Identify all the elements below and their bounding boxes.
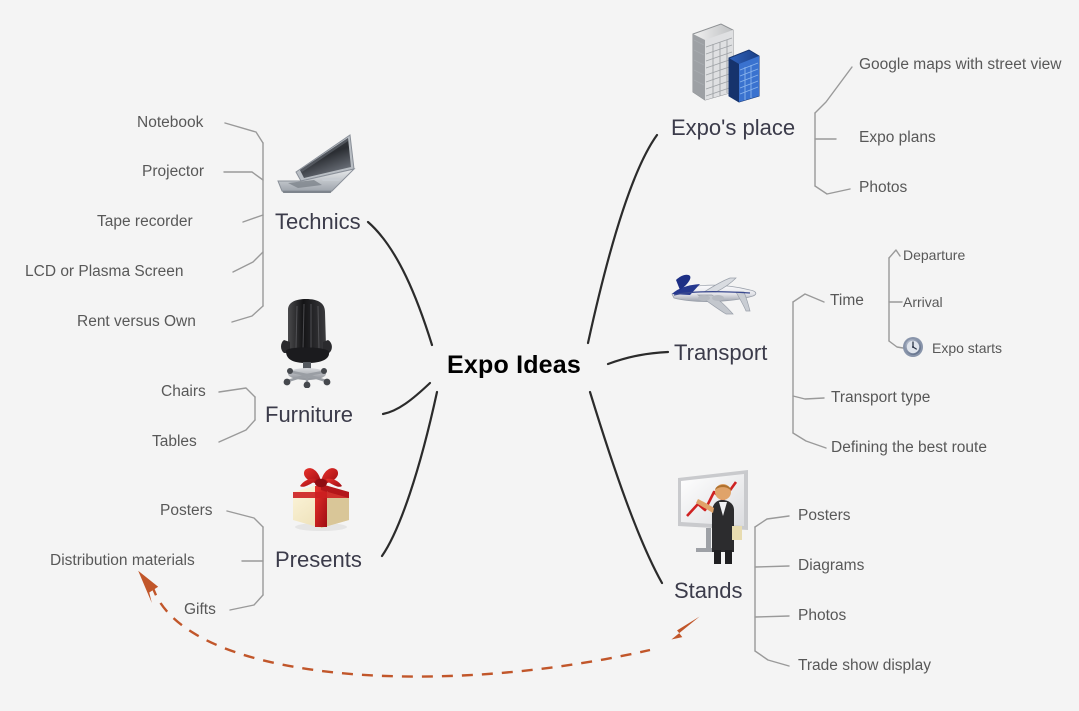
edge-center-technics — [368, 222, 432, 345]
edge-technics-lcd — [233, 252, 263, 272]
edge-stands-trade — [755, 651, 789, 666]
edge-transport-route — [793, 433, 826, 448]
edge-stands-diagrams — [755, 566, 789, 567]
edge-center-presents — [382, 392, 437, 556]
office-building-icon — [683, 18, 767, 104]
subtopic-technics-notebook[interactable]: Notebook — [137, 114, 203, 132]
subtopic-presents-gifts[interactable]: Gifts — [184, 601, 216, 619]
gift-box-icon — [283, 464, 359, 532]
airplane-icon — [660, 270, 762, 322]
edge-furniture-tables — [219, 420, 255, 442]
edge-technics-rent — [232, 306, 263, 322]
edge-transport-time — [793, 294, 824, 302]
edge-time-expostarts — [889, 341, 903, 348]
subtopic-stands-photos[interactable]: Photos — [798, 607, 846, 625]
office-chair-icon — [266, 296, 348, 388]
subtopic-furniture-chairs[interactable]: Chairs — [161, 383, 206, 401]
subtopic-place-photos[interactable]: Photos — [859, 179, 907, 197]
edge-furniture-chairs — [219, 388, 255, 397]
subtopic-presents-distribution-materials[interactable]: Distribution materials — [50, 552, 195, 570]
edge-technics-notebook — [225, 123, 263, 143]
central-topic-label[interactable]: Expo Ideas — [447, 351, 581, 381]
edge-stands-posters — [755, 516, 789, 527]
relationship-connector — [134, 571, 700, 677]
edge-center-transport — [608, 352, 668, 364]
edge-technics-projector — [224, 172, 263, 180]
edge-presents-gifts — [230, 595, 263, 610]
edge-place-google — [815, 67, 852, 113]
subtopic-stands-trade-show-display[interactable]: Trade show display — [798, 657, 931, 675]
subtopic-transport-type[interactable]: Transport type — [831, 389, 930, 407]
branch-label-transport[interactable]: Transport — [674, 340, 767, 366]
branch-label-presents[interactable]: Presents — [275, 547, 362, 573]
subtopic-technics-rent-versus-own[interactable]: Rent versus Own — [77, 313, 196, 331]
subtopic-furniture-tables[interactable]: Tables — [152, 433, 197, 451]
subtopic-transport-time[interactable]: Time — [830, 292, 864, 310]
branch-label-expos-place[interactable]: Expo's place — [671, 115, 795, 141]
subtopic-place-expo-plans[interactable]: Expo plans — [859, 129, 936, 147]
subtopic-stands-posters[interactable]: Posters — [798, 507, 851, 525]
branch-label-stands[interactable]: Stands — [674, 578, 743, 604]
subtopic-place-google-maps[interactable]: Google maps with street view — [859, 56, 1069, 74]
edge-center-stands — [590, 392, 662, 583]
edge-technics-tape — [243, 215, 263, 222]
edge-center-expos-place — [588, 135, 657, 343]
presentation-icon — [670, 464, 756, 564]
subtopic-technics-tape-recorder[interactable]: Tape recorder — [97, 213, 193, 231]
subtopic-time-departure[interactable]: Departure — [903, 247, 965, 264]
branch-label-furniture[interactable]: Furniture — [265, 402, 353, 428]
subtopic-stands-diagrams[interactable]: Diagrams — [798, 557, 864, 575]
edge-presents-posters — [227, 511, 263, 527]
subtopic-time-expo-starts[interactable]: Expo starts — [932, 340, 1002, 357]
branch-label-technics[interactable]: Technics — [275, 209, 361, 235]
laptop-icon — [272, 127, 356, 193]
subtopic-technics-projector[interactable]: Projector — [142, 163, 204, 181]
mindmap-canvas: Expo Ideas Technics Notebook Projector T… — [0, 0, 1079, 711]
edge-center-furniture — [383, 383, 430, 414]
edge-place-photos — [815, 186, 850, 194]
edge-transport-type — [793, 396, 824, 399]
clock-icon — [902, 336, 924, 358]
edge-time-departure — [889, 250, 900, 258]
subtopic-transport-best-route[interactable]: Defining the best route — [831, 439, 987, 457]
subtopic-technics-lcd-plasma-screen[interactable]: LCD or Plasma Screen — [25, 263, 184, 281]
subtopic-presents-posters[interactable]: Posters — [160, 502, 213, 520]
edge-stands-photos — [755, 616, 789, 617]
subtopic-time-arrival[interactable]: Arrival — [903, 294, 943, 311]
